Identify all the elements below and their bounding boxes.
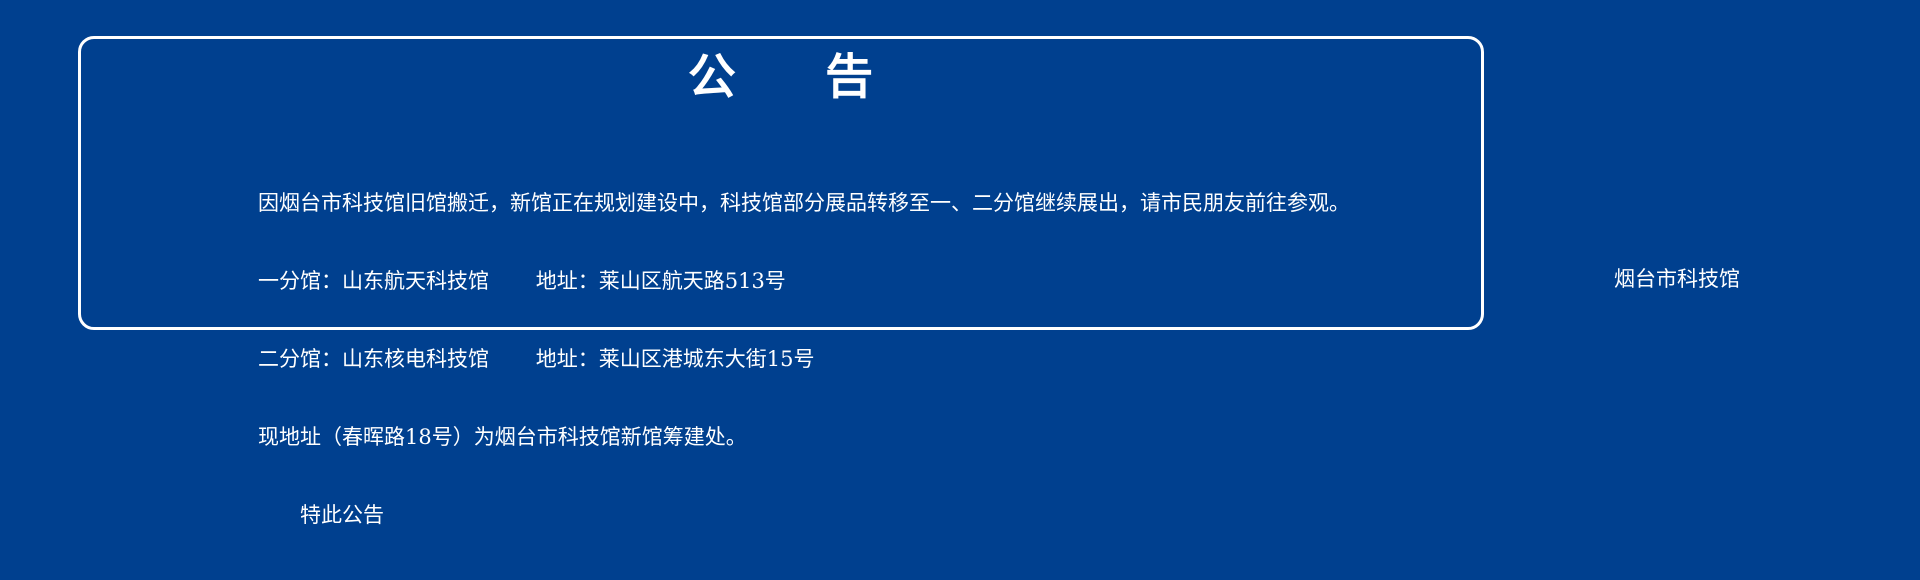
page-title: 公 告 bbox=[78, 48, 1484, 106]
notice-body-line-3: 二分馆：山东核电科技馆 地址：莱山区港城东大街15号 bbox=[258, 346, 1438, 372]
notice-body-line-4: 现地址（春晖路18号）为烟台市科技馆新馆筹建处。 bbox=[258, 424, 1438, 450]
notice-body-line-1: 因烟台市科技馆旧馆搬迁，新馆正在规划建设中，科技馆部分展品转移至一、二分馆继续展… bbox=[258, 190, 1438, 216]
notice-body: 因烟台市科技馆旧馆搬迁，新馆正在规划建设中，科技馆部分展品转移至一、二分馆继续展… bbox=[258, 138, 1438, 580]
notice-body-line-5: 特此公告 bbox=[258, 502, 1438, 528]
notice-signature: 烟台市科技馆 bbox=[1614, 266, 1740, 292]
notice-body-line-2: 一分馆：山东航天科技馆 地址：莱山区航天路513号 bbox=[258, 268, 1438, 294]
notice-board: 公 告 因烟台市科技馆旧馆搬迁，新馆正在规划建设中，科技馆部分展品转移至一、二分… bbox=[0, 0, 1920, 446]
